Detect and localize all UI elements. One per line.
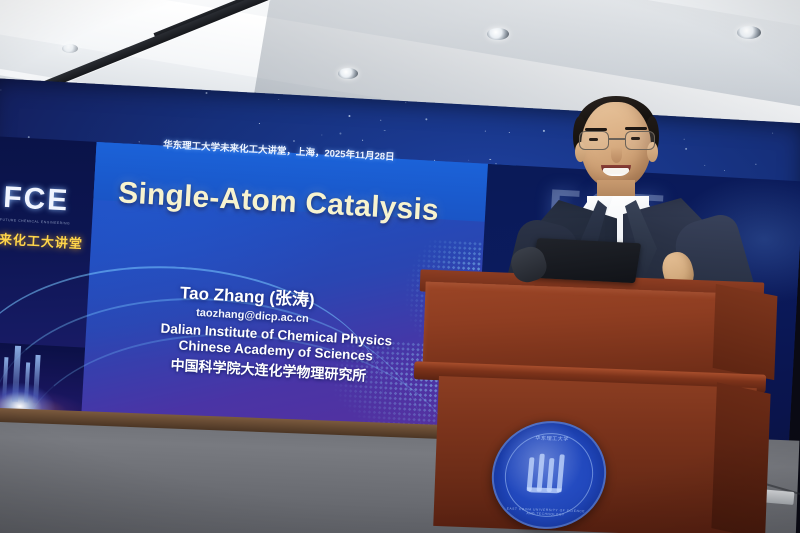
emblem-glyph <box>524 453 574 497</box>
podium-side-panel <box>713 284 778 380</box>
nose <box>611 147 622 163</box>
slide-header-text: 华东理工大学未来化工大讲堂，上海，2025年11月28日 <box>163 137 403 164</box>
slide-title: Single-Atom Catalysis <box>117 176 468 229</box>
eyebrow-right <box>625 127 647 130</box>
eye-right <box>631 137 640 140</box>
lecture-hall-photo: FCE FUTURE CHEMICAL ENGINEERING 未来化工大讲堂 <box>0 0 800 533</box>
laptop-screen <box>531 238 641 283</box>
university-emblem-icon: 华东理工大学 EAST CHINA UNIVERSITY OF SCIENCE … <box>487 419 610 531</box>
podium-base-side <box>711 382 770 533</box>
teeth <box>603 168 629 173</box>
laptop-icon <box>511 237 641 290</box>
glasses-bridge <box>609 138 625 140</box>
eye-left <box>589 138 598 141</box>
lens-right <box>625 131 655 150</box>
